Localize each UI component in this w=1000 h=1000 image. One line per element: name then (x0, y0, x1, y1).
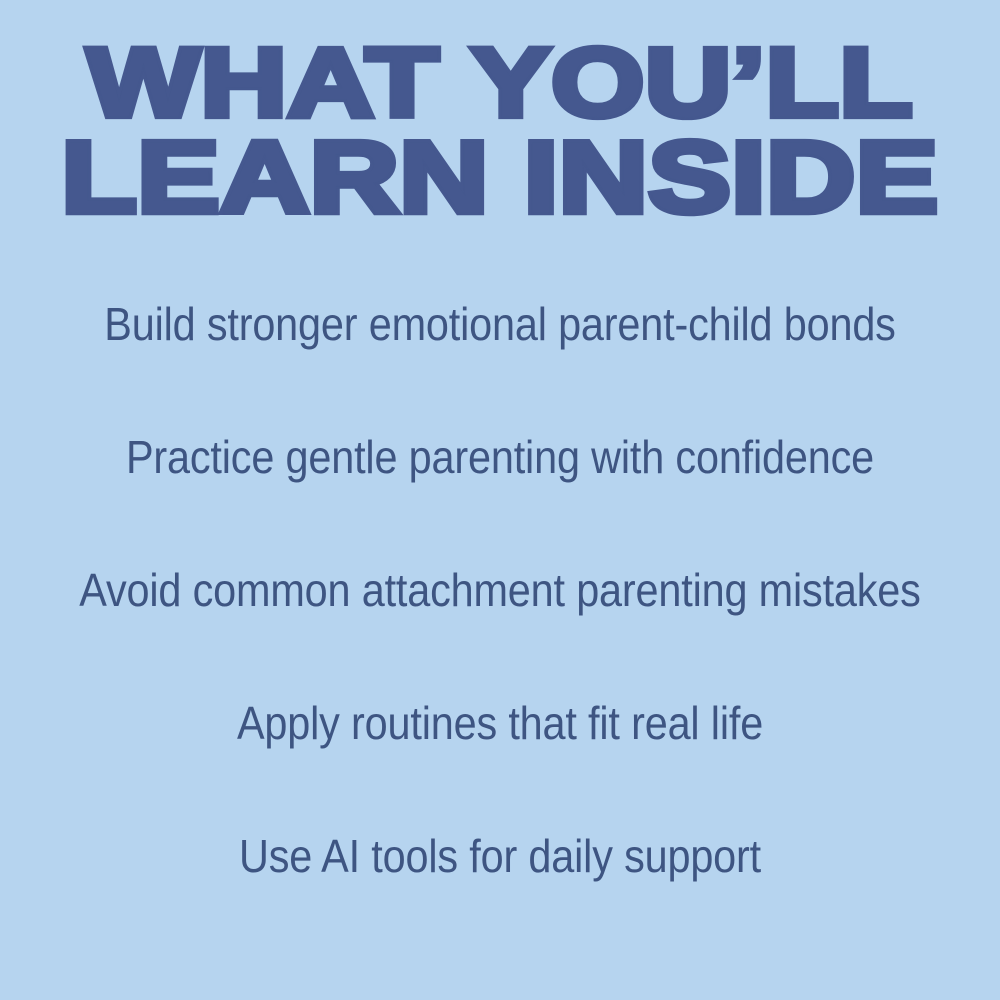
page-title-line-2: LEARN INSIDE (0, 137, 1000, 220)
poster-canvas: WHAT YOU’LL LEARN INSIDE Build stronger … (0, 0, 1000, 1000)
benefits-list: Build stronger emotional parent-child bo… (0, 258, 1000, 924)
list-item: Avoid common attachment parenting mistak… (50, 524, 950, 657)
list-item: Use AI tools for daily support (50, 790, 950, 923)
list-item: Build stronger emotional parent-child bo… (50, 258, 950, 391)
page-title-line-1: WHAT YOU’LL (0, 44, 1000, 124)
page-title: WHAT YOU’LL LEARN INSIDE (0, 44, 1000, 213)
list-item: Practice gentle parenting with confidenc… (50, 391, 950, 524)
list-item: Apply routines that fit real life (50, 657, 950, 790)
